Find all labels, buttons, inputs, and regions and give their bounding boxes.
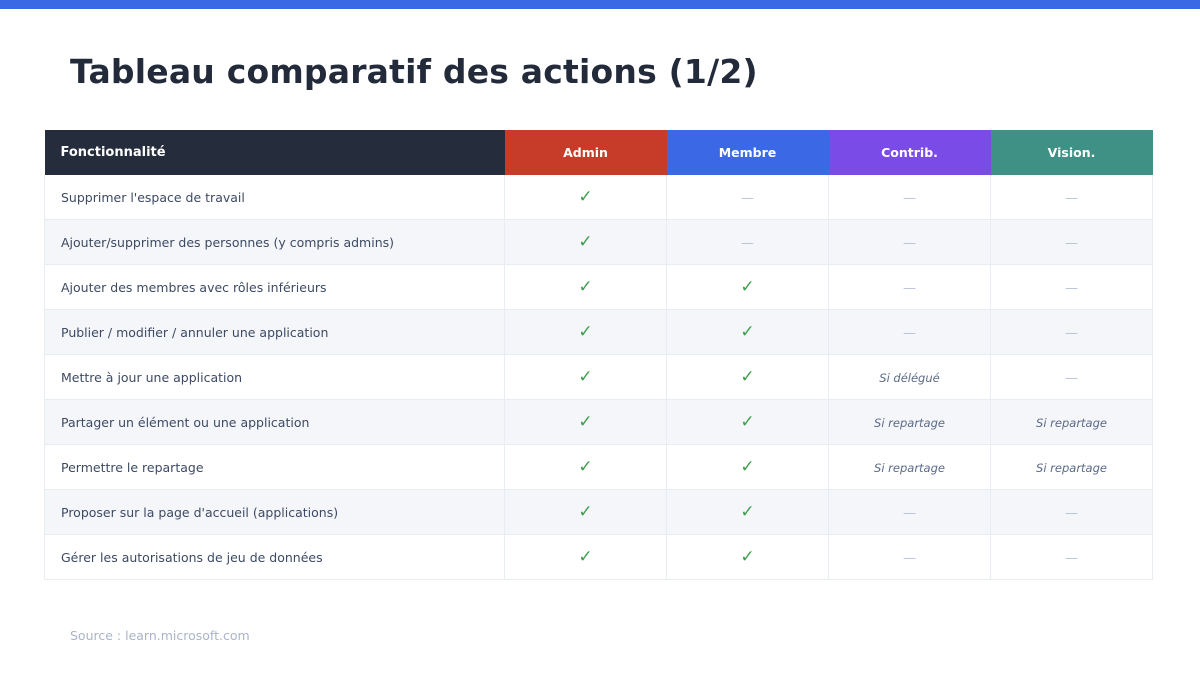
table-body: Supprimer l'espace de travail✓———Ajouter… — [45, 175, 1153, 580]
admin-value: ✓ — [578, 412, 592, 432]
membre-cell: ✓ — [667, 265, 829, 310]
vision-cell: — — [991, 535, 1153, 580]
vision-value: Si repartage — [1036, 416, 1107, 430]
contrib-value: — — [903, 551, 916, 566]
feature-cell: Publier / modifier / annuler une applica… — [45, 310, 505, 355]
membre-value: ✓ — [740, 277, 754, 297]
membre-value: ✓ — [740, 547, 754, 567]
feature-cell: Ajouter des membres avec rôles inférieur… — [45, 265, 505, 310]
contrib-value: — — [903, 281, 916, 296]
admin-value: ✓ — [578, 367, 592, 387]
source-note: Source : learn.microsoft.com — [70, 628, 250, 643]
column-header-vision: Vision. — [991, 130, 1153, 175]
membre-value: ✓ — [740, 322, 754, 342]
table-row: Publier / modifier / annuler une applica… — [45, 310, 1153, 355]
contrib-cell: Si délégué — [829, 355, 991, 400]
admin-value: ✓ — [578, 232, 592, 252]
feature-cell: Partager un élément ou une application — [45, 400, 505, 445]
page-title: Tableau comparatif des actions (1/2) — [70, 52, 758, 91]
admin-cell: ✓ — [505, 400, 667, 445]
admin-cell: ✓ — [505, 175, 667, 220]
admin-cell: ✓ — [505, 445, 667, 490]
table-header-row: Fonctionnalité Admin Membre Contrib. Vis… — [45, 130, 1153, 175]
contrib-cell: Si repartage — [829, 445, 991, 490]
feature-cell: Proposer sur la page d'accueil (applicat… — [45, 490, 505, 535]
column-header-feature: Fonctionnalité — [45, 130, 505, 175]
vision-value: — — [1065, 326, 1078, 341]
membre-cell: — — [667, 175, 829, 220]
contrib-value: Si délégué — [879, 371, 939, 385]
vision-cell: — — [991, 355, 1153, 400]
membre-cell: ✓ — [667, 355, 829, 400]
contrib-cell: — — [829, 265, 991, 310]
admin-value: ✓ — [578, 547, 592, 567]
vision-cell: Si repartage — [991, 400, 1153, 445]
feature-cell: Ajouter/supprimer des personnes (y compr… — [45, 220, 505, 265]
vision-cell: — — [991, 310, 1153, 355]
table-row: Ajouter/supprimer des personnes (y compr… — [45, 220, 1153, 265]
membre-value: — — [741, 236, 754, 251]
feature-cell: Permettre le repartage — [45, 445, 505, 490]
admin-value: ✓ — [578, 322, 592, 342]
comparison-table-container: Fonctionnalité Admin Membre Contrib. Vis… — [44, 130, 1152, 580]
membre-cell: ✓ — [667, 445, 829, 490]
contrib-cell: — — [829, 175, 991, 220]
vision-value: Si repartage — [1036, 461, 1107, 475]
membre-cell: ✓ — [667, 400, 829, 445]
accent-top-bar — [0, 0, 1200, 9]
vision-cell: — — [991, 220, 1153, 265]
contrib-cell: — — [829, 490, 991, 535]
admin-cell: ✓ — [505, 535, 667, 580]
vision-value: — — [1065, 371, 1078, 386]
contrib-value: — — [903, 506, 916, 521]
membre-value: ✓ — [740, 502, 754, 522]
membre-value: — — [741, 191, 754, 206]
column-header-contrib: Contrib. — [829, 130, 991, 175]
table-row: Gérer les autorisations de jeu de donnée… — [45, 535, 1153, 580]
contrib-value: Si repartage — [874, 461, 945, 475]
vision-value: — — [1065, 551, 1078, 566]
contrib-cell: — — [829, 535, 991, 580]
membre-cell: ✓ — [667, 310, 829, 355]
feature-cell: Mettre à jour une application — [45, 355, 505, 400]
admin-value: ✓ — [578, 187, 592, 207]
membre-value: ✓ — [740, 457, 754, 477]
contrib-value: — — [903, 326, 916, 341]
vision-value: — — [1065, 281, 1078, 296]
vision-value: — — [1065, 506, 1078, 521]
feature-cell: Supprimer l'espace de travail — [45, 175, 505, 220]
admin-cell: ✓ — [505, 490, 667, 535]
vision-value: — — [1065, 236, 1078, 251]
table-header: Fonctionnalité Admin Membre Contrib. Vis… — [45, 130, 1153, 175]
contrib-cell: Si repartage — [829, 400, 991, 445]
vision-cell: Si repartage — [991, 445, 1153, 490]
membre-value: ✓ — [740, 412, 754, 432]
table-row: Partager un élément ou une application✓✓… — [45, 400, 1153, 445]
comparison-table: Fonctionnalité Admin Membre Contrib. Vis… — [44, 130, 1153, 580]
admin-value: ✓ — [578, 457, 592, 477]
column-header-admin: Admin — [505, 130, 667, 175]
admin-cell: ✓ — [505, 220, 667, 265]
contrib-value: — — [903, 191, 916, 206]
vision-value: — — [1065, 191, 1078, 206]
membre-value: ✓ — [740, 367, 754, 387]
membre-cell: ✓ — [667, 490, 829, 535]
table-row: Proposer sur la page d'accueil (applicat… — [45, 490, 1153, 535]
membre-cell: — — [667, 220, 829, 265]
table-row: Permettre le repartage✓✓Si repartageSi r… — [45, 445, 1153, 490]
vision-cell: — — [991, 175, 1153, 220]
vision-cell: — — [991, 265, 1153, 310]
contrib-cell: — — [829, 220, 991, 265]
contrib-value: Si repartage — [874, 416, 945, 430]
membre-cell: ✓ — [667, 535, 829, 580]
feature-cell: Gérer les autorisations de jeu de donnée… — [45, 535, 505, 580]
admin-value: ✓ — [578, 277, 592, 297]
contrib-value: — — [903, 236, 916, 251]
table-row: Supprimer l'espace de travail✓——— — [45, 175, 1153, 220]
column-header-membre: Membre — [667, 130, 829, 175]
contrib-cell: — — [829, 310, 991, 355]
admin-cell: ✓ — [505, 310, 667, 355]
table-row: Mettre à jour une application✓✓Si délégu… — [45, 355, 1153, 400]
admin-cell: ✓ — [505, 265, 667, 310]
admin-cell: ✓ — [505, 355, 667, 400]
admin-value: ✓ — [578, 502, 592, 522]
vision-cell: — — [991, 490, 1153, 535]
table-row: Ajouter des membres avec rôles inférieur… — [45, 265, 1153, 310]
